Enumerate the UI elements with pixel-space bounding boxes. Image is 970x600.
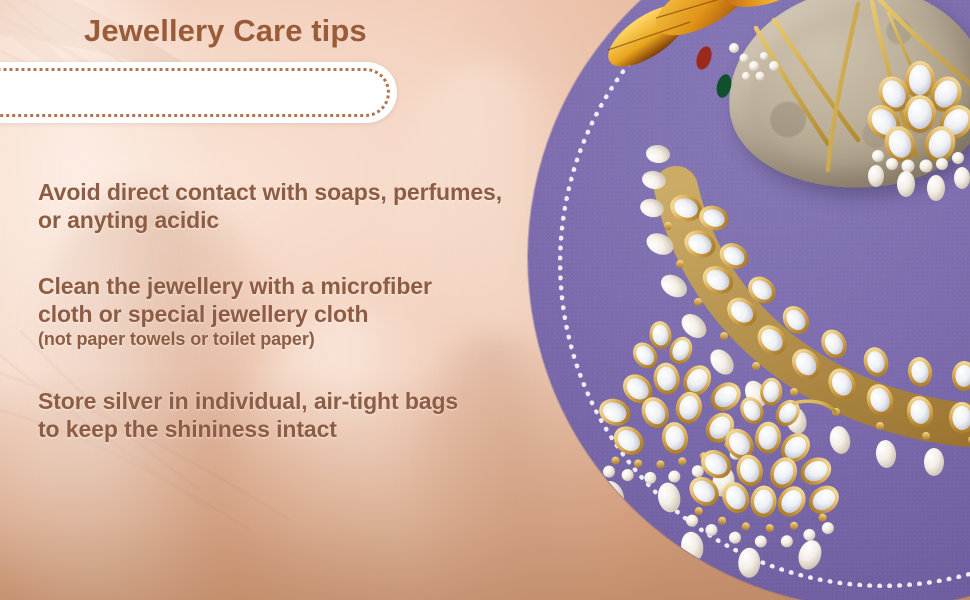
tip-storage: Store silver in individual, air-tight ba… xyxy=(38,387,558,443)
title-pill xyxy=(0,62,397,123)
page-title: Jewellery Care tips xyxy=(84,0,367,61)
tip-soaps-line-2: or anyting acidic xyxy=(38,206,558,234)
purple-circle-backdrop xyxy=(528,0,970,600)
jewellery-care-banner: Jewellery Care tips Avoid direct contact… xyxy=(0,0,970,600)
tip-cloth-note: (not paper towels or toilet paper) xyxy=(38,328,558,351)
tip-cloth: Clean the jewellery with a microfiber cl… xyxy=(38,272,558,351)
kundan-maang-tikka xyxy=(861,12,970,201)
care-tips-list: Avoid direct contact with soaps, perfume… xyxy=(38,178,558,443)
tip-cloth-line-1: Clean the jewellery with a microfiber xyxy=(38,272,558,300)
tip-storage-line-1: Store silver in individual, air-tight ba… xyxy=(38,387,558,415)
tip-soaps: Avoid direct contact with soaps, perfume… xyxy=(38,178,558,234)
tip-soaps-line-1: Avoid direct contact with soaps, perfume… xyxy=(38,178,558,206)
tip-cloth-line-2: cloth or special jewellery cloth xyxy=(38,300,558,328)
title-pill-dotted-border xyxy=(0,68,390,117)
jewellery-layer xyxy=(528,0,970,600)
tip-storage-line-2: to keep the shininess intact xyxy=(38,415,558,443)
